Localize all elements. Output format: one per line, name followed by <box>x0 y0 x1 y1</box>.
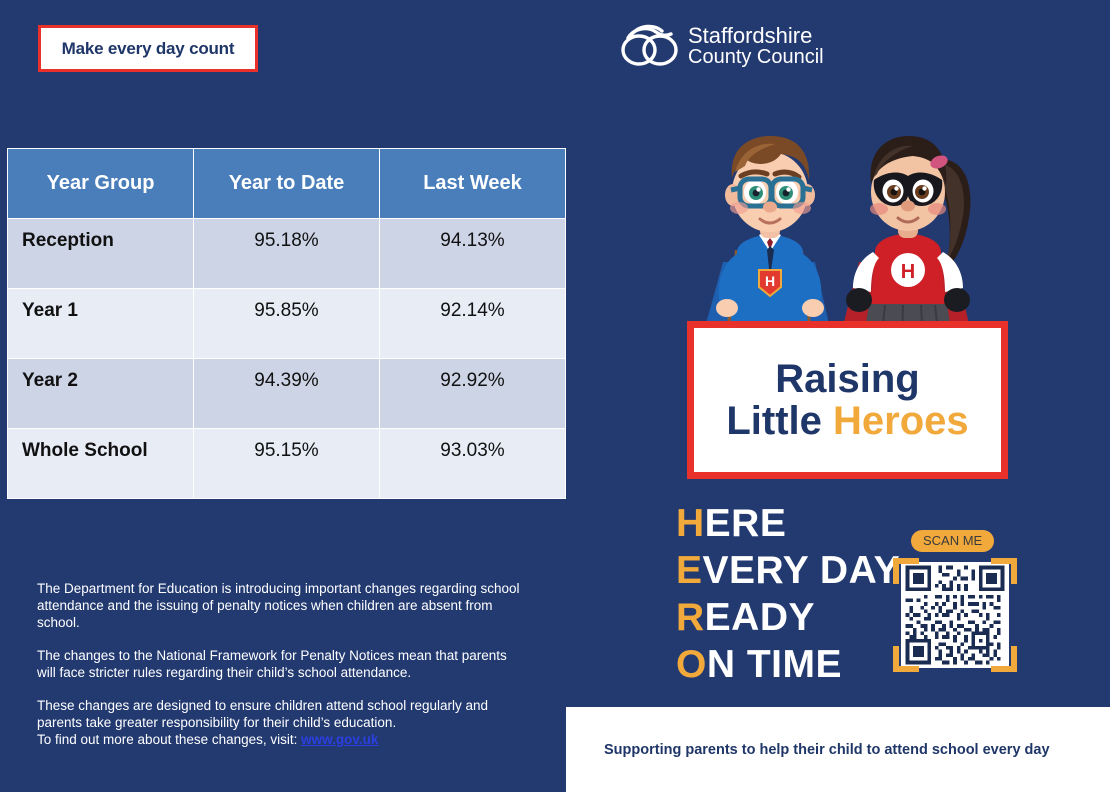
row-label: Reception <box>8 219 194 289</box>
row-year-to-date: 95.85% <box>194 289 380 359</box>
row-label: Whole School <box>8 429 194 499</box>
bottom-banner-text: Supporting parents to help their child t… <box>604 742 1050 758</box>
row-year-to-date: 95.18% <box>194 219 380 289</box>
hero-line-on-time: ON TIME <box>676 641 900 688</box>
row-last-week: 92.92% <box>380 359 566 429</box>
scan-me-badge: SCAN ME <box>911 530 994 552</box>
info-paragraph-1: The Department for Education is introduc… <box>37 580 527 631</box>
boy-character: H <box>701 136 833 342</box>
rlh-word-little: Little <box>726 399 833 443</box>
qr-corner-bottom-right-icon <box>991 646 1017 672</box>
qr-code-block[interactable]: SCAN ME <box>893 530 1021 672</box>
hero-word-every-day: VERY DAY <box>703 549 901 592</box>
row-last-week: 92.14% <box>380 289 566 359</box>
qr-corner-bottom-left-icon <box>893 646 919 672</box>
hero-word-ready: EADY <box>705 596 815 639</box>
council-logo-text: Staffordshire County Council <box>688 25 824 68</box>
hero-word-here: ERE <box>705 502 787 545</box>
row-last-week: 94.13% <box>380 219 566 289</box>
staffordshire-knot-icon <box>618 22 680 70</box>
council-name-line1: Staffordshire <box>688 25 824 47</box>
hero-initial-e: E <box>676 549 703 592</box>
column-header-year-group: Year Group <box>8 149 194 219</box>
superhero-children-illustration: H <box>663 92 1013 342</box>
hero-initial-h: H <box>676 502 705 545</box>
information-copy: The Department for Education is introduc… <box>37 580 527 748</box>
attendance-table: Year Group Year to Date Last Week Recept… <box>7 148 566 499</box>
rlh-line-raising: Raising <box>775 358 919 400</box>
hero-initial-o: O <box>676 643 707 686</box>
council-name-line2: County Council <box>688 47 824 67</box>
hero-acronym-block: HERE EVERY DAY READY ON TIME <box>676 500 900 688</box>
info-paragraph-3-text: These changes are designed to ensure chi… <box>37 698 488 730</box>
table-row: Reception 95.18% 94.13% <box>8 219 566 289</box>
row-year-to-date: 94.39% <box>194 359 380 429</box>
bottom-banner: Supporting parents to help their child t… <box>566 707 1110 792</box>
tagline-text: Make every day count <box>62 39 235 59</box>
gov-uk-link[interactable]: www.gov.uk <box>301 732 378 747</box>
hero-line-here: HERE <box>676 500 900 547</box>
qr-corner-top-right-icon <box>991 558 1017 584</box>
hero-line-ready: READY <box>676 594 900 641</box>
attendance-newsletter-page: { "colors": { "background_navy": "#233a7… <box>0 0 1110 792</box>
make-every-day-count-badge: Make every day count <box>38 25 258 72</box>
column-header-year-to-date: Year to Date <box>194 149 380 219</box>
row-year-to-date: 95.15% <box>194 429 380 499</box>
hero-line-every-day: EVERY DAY <box>676 547 900 594</box>
info-paragraph-2: The changes to the National Framework fo… <box>37 647 527 681</box>
row-last-week: 93.03% <box>380 429 566 499</box>
qr-corner-top-left-icon <box>893 558 919 584</box>
svg-text:H: H <box>901 261 915 283</box>
girl-character: H <box>839 136 973 342</box>
table-row: Whole School 95.15% 93.03% <box>8 429 566 499</box>
staffordshire-county-council-logo: Staffordshire County Council <box>618 22 824 70</box>
svg-text:H: H <box>765 273 775 289</box>
qr-code-frame[interactable] <box>893 558 1017 672</box>
table-row: Year 1 95.85% 92.14% <box>8 289 566 359</box>
table-row: Year 2 94.39% 92.92% <box>8 359 566 429</box>
table-header-row: Year Group Year to Date Last Week <box>8 149 566 219</box>
column-header-last-week: Last Week <box>380 149 566 219</box>
raising-little-heroes-panel: Raising Little Heroes <box>687 321 1008 479</box>
row-label: Year 2 <box>8 359 194 429</box>
info-paragraph-3: These changes are designed to ensure chi… <box>37 697 527 748</box>
rlh-line-little-heroes: Little Heroes <box>726 400 968 442</box>
info-visit-prefix: To find out more about these changes, vi… <box>37 732 301 747</box>
hero-initial-r: R <box>676 596 705 639</box>
row-label: Year 1 <box>8 289 194 359</box>
hero-word-on-time: N TIME <box>707 643 842 686</box>
rlh-word-heroes: Heroes <box>833 399 969 443</box>
